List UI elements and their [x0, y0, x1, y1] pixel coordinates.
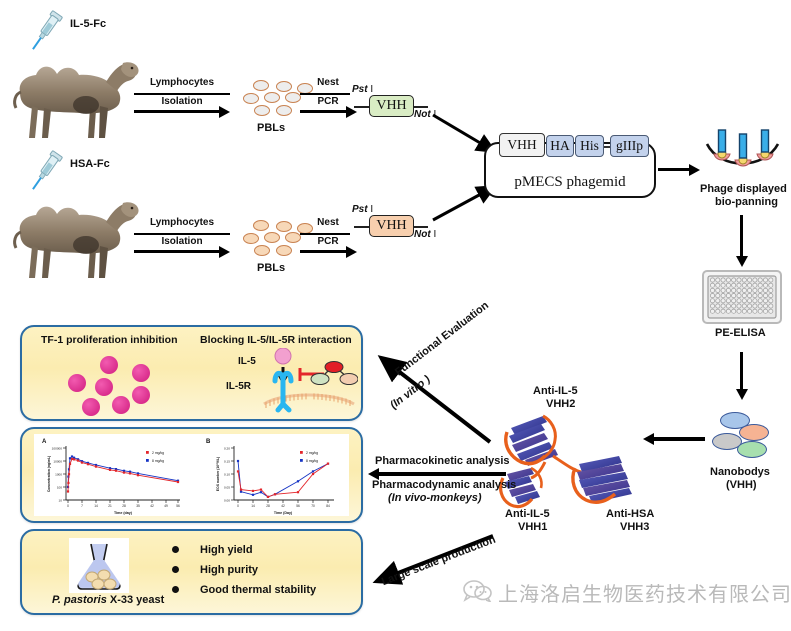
svg-text:8 mg/kg: 8 mg/kg	[306, 459, 318, 463]
structure-label-vhh3-line2: VHH3	[620, 521, 649, 533]
blocking-il5-title: Blocking IL-5/IL-5R interaction	[200, 334, 352, 346]
svg-text:49: 49	[164, 504, 168, 508]
svg-text:28: 28	[266, 504, 270, 508]
phagemid-segment-gIIIp-label: gIIIp	[616, 138, 643, 154]
lymphocyte-isolation-label-top-1: Lymphocytes	[134, 77, 230, 88]
antigen-label-2: HSA-Fc	[70, 158, 110, 170]
lymphocyte-isolation-label-top-2: Lymphocytes	[134, 217, 230, 228]
svg-text:100: 100	[57, 485, 62, 489]
elisa-to-nanobody-head	[736, 389, 748, 400]
svg-text:B: B	[206, 439, 211, 445]
svg-text:0: 0	[67, 504, 69, 508]
antigen-label-1: IL-5-Fc	[70, 18, 106, 30]
svg-text:Concentration (ng/mL): Concentration (ng/mL)	[47, 456, 51, 492]
pkpd-arrow-shaft	[378, 472, 506, 476]
svg-text:21: 21	[108, 504, 112, 508]
nest-pcr-label-top-2: Nest	[300, 217, 356, 228]
pst1-site-label-1: Pst I	[352, 84, 373, 95]
lymphocyte-isolation-arrow-1: Lymphocytes Isolation	[134, 78, 230, 124]
pkpd-charts-svg: A 100000 10000 1000 100 10	[34, 434, 349, 516]
feature-label-3: Good thermal stability	[200, 584, 316, 596]
svg-text:14: 14	[94, 504, 98, 508]
blocking-mechanism-illustration	[262, 348, 358, 423]
company-watermark-text: 上海洛启生物医药技术有限公司	[498, 578, 791, 607]
svg-text:56: 56	[296, 504, 300, 508]
diagram-canvas: IL-5-Fc	[0, 0, 791, 631]
invivo-monkeys-label: (In vivo-monkeys)	[388, 492, 482, 504]
feature-bullet-2	[172, 566, 179, 573]
il5-ligand-label: IL-5	[238, 356, 256, 367]
pkpd-arrow-head	[368, 468, 379, 480]
pst1-site-label-2: Pst I	[352, 204, 373, 215]
pbl-label-1: PBLs	[257, 122, 285, 134]
svg-text:84: 84	[326, 504, 330, 508]
phagemid-segment-ha: HA	[546, 135, 574, 157]
lymphocyte-isolation-label-bottom-2: Isolation	[134, 236, 230, 247]
elisa-label: PE-ELISA	[715, 327, 766, 339]
structure-label-vhh1-line1: Anti-IL-5	[505, 508, 550, 520]
svg-text:35: 35	[136, 504, 140, 508]
yeast-strain-label: P. pastoris X-33 yeast	[52, 594, 164, 606]
svg-text:56: 56	[176, 504, 180, 508]
feature-label-2: High purity	[200, 564, 258, 576]
vhh-gene-label-1: VHH	[376, 98, 406, 114]
nest-pcr-label-top-1: Nest	[300, 77, 356, 88]
svg-text:10000: 10000	[53, 459, 62, 463]
feature-label-1: High yield	[200, 544, 253, 556]
tf1-cell-cluster	[60, 356, 175, 416]
nest-pcr-arrow-2: Nest PCR	[300, 218, 356, 264]
yeast-flask-illustration	[69, 538, 129, 593]
pbl-label-2: PBLs	[257, 262, 285, 274]
svg-text:Time (Day): Time (Day)	[274, 511, 293, 515]
biopanning-to-elisa-head	[736, 256, 748, 267]
trivalent-nanobody-structure	[495, 408, 655, 523]
biopanning-illustration	[702, 128, 782, 181]
structure-label-vhh2-line1: Anti-IL-5	[533, 385, 578, 397]
svg-text:14: 14	[251, 504, 255, 508]
structure-label-vhh3-line1: Anti-HSA	[606, 508, 654, 520]
pkpd-chart-area: A 100000 10000 1000 100 10	[34, 434, 349, 516]
camel-illustration-2	[2, 182, 142, 282]
vhh-gene-box-2: VHH	[369, 215, 414, 237]
phagemid-segment-his-label: His	[580, 138, 599, 154]
il5r-receptor-label: IL-5R	[226, 381, 251, 392]
svg-text:42: 42	[281, 504, 285, 508]
svg-text:7: 7	[81, 504, 83, 508]
svg-text:42: 42	[150, 504, 154, 508]
svg-text:100000: 100000	[52, 446, 63, 450]
svg-text:0.20: 0.20	[224, 446, 230, 450]
phagemid-to-biopanning-shaft	[658, 168, 690, 171]
svg-text:28: 28	[122, 504, 126, 508]
nanobody-to-structure-shaft	[653, 437, 705, 441]
pharmacodynamic-analysis-label: Pharmacodynamic analysis	[372, 479, 516, 491]
pmecs-phagemid-title: pMECS phagemid	[486, 174, 654, 191]
feature-bullet-1	[172, 546, 179, 553]
svg-text:A: A	[42, 439, 47, 445]
phagemid-to-biopanning-head	[689, 164, 700, 176]
feature-bullet-3	[172, 586, 179, 593]
nest-pcr-arrow-1: Nest PCR	[300, 78, 356, 124]
svg-text:10: 10	[59, 498, 63, 502]
svg-text:8 mg/kg: 8 mg/kg	[152, 459, 164, 463]
lymphocyte-isolation-label-bottom-1: Isolation	[134, 96, 230, 107]
vhh-gene-box-1: VHH	[369, 95, 414, 117]
pharmacokinetic-analysis-label: Pharmacokinetic analysis	[375, 455, 510, 467]
svg-text:EOS number (10^9/L): EOS number (10^9/L)	[216, 457, 220, 491]
wechat-icon	[462, 578, 492, 607]
phagemid-segment-his: His	[575, 135, 604, 157]
biopanning-label-line1: Phage displayed	[700, 183, 787, 195]
elisa-plate-illustration	[702, 270, 782, 329]
phagemid-segment-vhh: VHH	[499, 133, 545, 157]
svg-text:0.15: 0.15	[224, 459, 230, 463]
elisa-to-nanobody-shaft	[740, 352, 743, 390]
phagemid-segment-gIIIp: gIIIp	[610, 135, 649, 157]
nanobody-label-line2: (VHH)	[726, 479, 757, 491]
vhh-gene-label-2: VHH	[376, 218, 406, 234]
nanobody-ovals	[712, 412, 776, 460]
svg-text:1000: 1000	[55, 472, 62, 476]
nanobody-label-line1: Nanobodys	[710, 466, 770, 478]
svg-text:70: 70	[311, 504, 315, 508]
svg-text:2 mg/kg: 2 mg/kg	[306, 451, 318, 455]
structure-label-vhh1-line2: VHH1	[518, 521, 547, 533]
phagemid-segment-vhh-label: VHH	[507, 137, 536, 153]
svg-text:0.00: 0.00	[224, 498, 230, 502]
svg-text:0.05: 0.05	[224, 485, 230, 489]
svg-text:0.10: 0.10	[224, 472, 230, 476]
svg-text:Time (day): Time (day)	[114, 511, 133, 515]
camel-illustration-1	[2, 42, 142, 142]
svg-text:2 mg/kg: 2 mg/kg	[152, 451, 164, 455]
biopanning-to-elisa-shaft	[740, 215, 743, 257]
phagemid-segment-ha-label: HA	[550, 138, 570, 154]
svg-text:0: 0	[237, 504, 239, 508]
lymphocyte-isolation-arrow-2: Lymphocytes Isolation	[134, 218, 230, 264]
tf1-proliferation-title: TF-1 proliferation inhibition	[41, 334, 178, 346]
biopanning-label-line2: bio-panning	[715, 196, 778, 208]
